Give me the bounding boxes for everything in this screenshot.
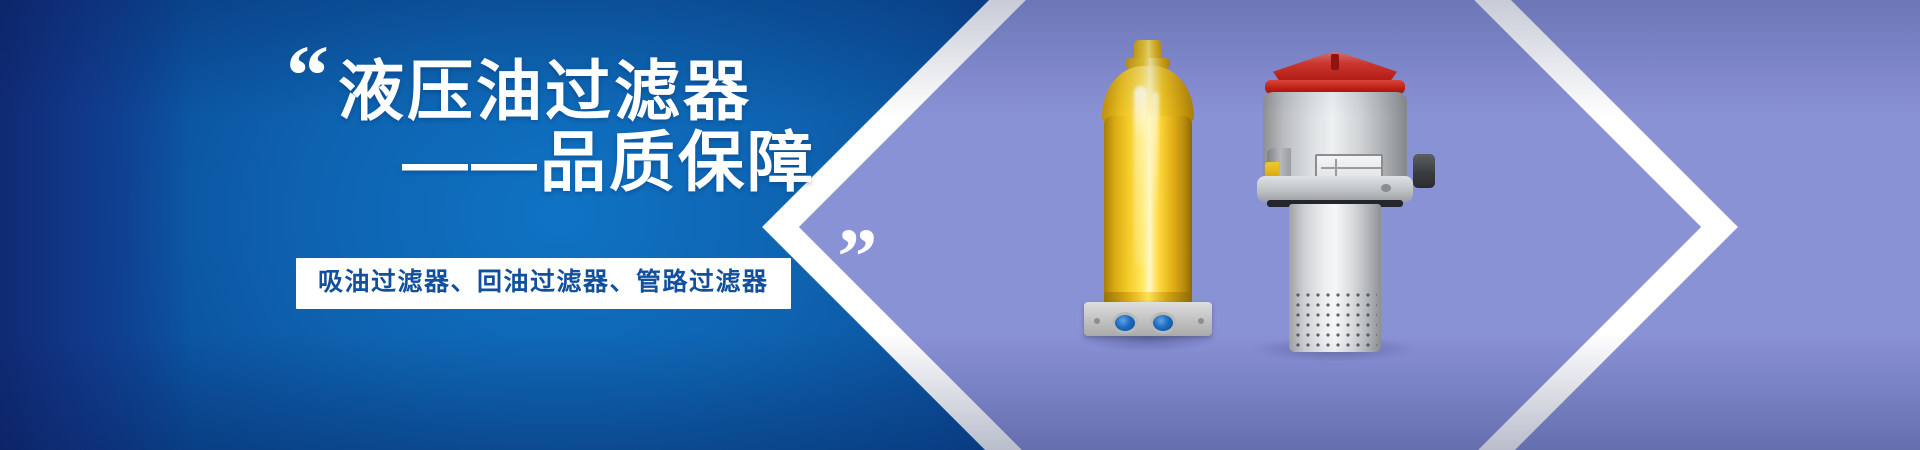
quote-close-icon: „: [838, 176, 874, 256]
headline-line-1: 液压油过滤器: [334, 56, 864, 127]
headline-lines: 液压油过滤器 ——品质保障: [334, 56, 864, 197]
headline-block: “ 液压油过滤器 ——品质保障 „ 吸油过滤器、回油过滤器、管路过滤器: [286, 26, 866, 326]
quote-open-icon: “: [286, 32, 325, 118]
headline-line-2: ——品质保障: [334, 127, 864, 198]
subtitle-box: 吸油过滤器、回油过滤器、管路过滤器: [296, 258, 791, 309]
promo-banner: “ 液压油过滤器 ——品质保障 „ 吸油过滤器、回油过滤器、管路过滤器: [0, 0, 1920, 450]
subtitle-text: 吸油过滤器、回油过滤器、管路过滤器: [318, 267, 769, 298]
